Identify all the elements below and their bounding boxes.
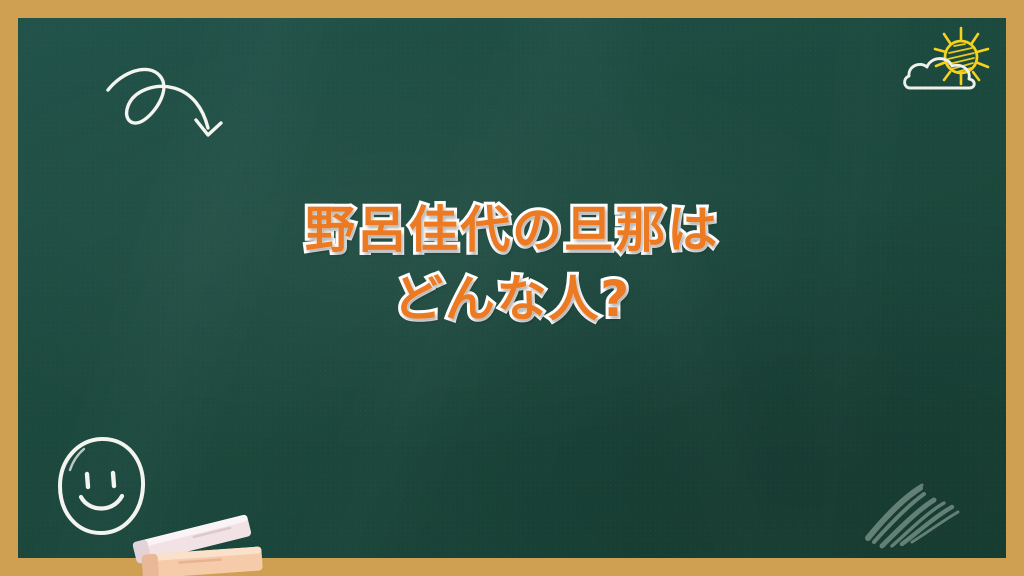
sun-behind-cloud-icon [898, 22, 1008, 109]
chalk-scribble-icon [858, 476, 978, 557]
chalk-sticks-group [120, 496, 280, 576]
page-title: 野呂佳代の旦那は どんな人? [0, 196, 1024, 334]
title-line-1: 野呂佳代の旦那は [0, 196, 1024, 265]
title-line-2: どんな人? [0, 265, 1024, 334]
curly-arrow-icon [104, 56, 234, 157]
title-card-canvas: 野呂佳代の旦那は どんな人? [0, 0, 1024, 576]
